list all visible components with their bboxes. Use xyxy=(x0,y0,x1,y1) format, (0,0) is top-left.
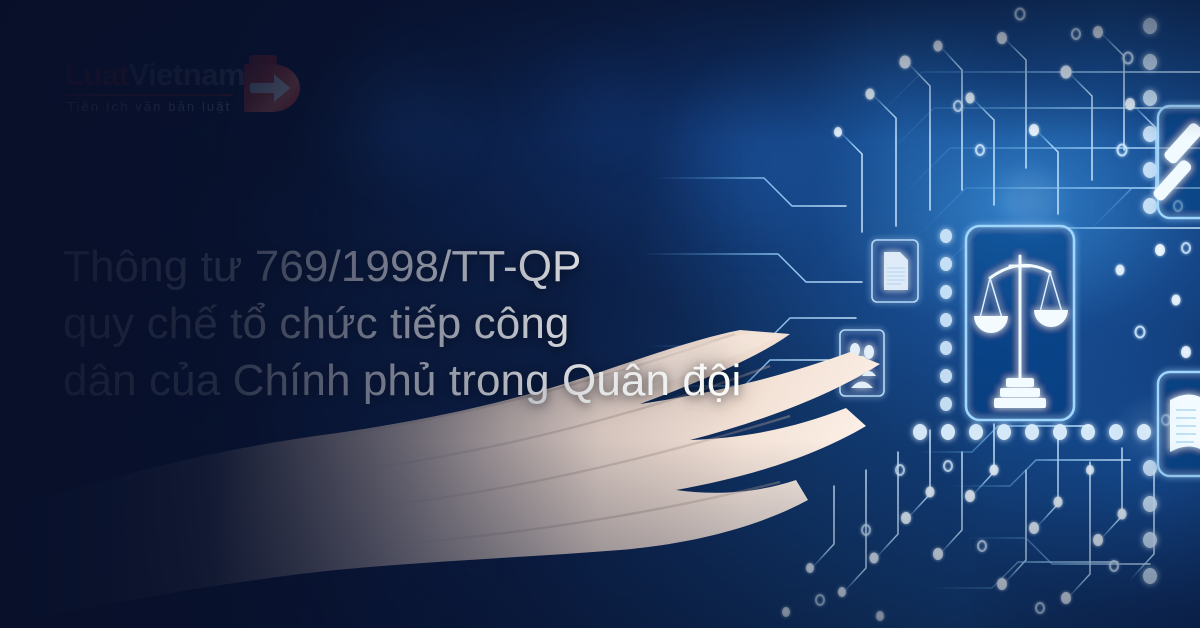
logo-wordmark: LuatVietnam xyxy=(65,58,245,92)
page-title: Thông tư 769/1998/TT-QP quy chế tổ chức … xyxy=(63,238,883,409)
banner: LuatVietnam Tiện ích văn bản luật Thông … xyxy=(0,0,1200,628)
folder-arrow-icon xyxy=(240,51,306,113)
logo-underline xyxy=(65,94,233,96)
logo-word-luat: Luat xyxy=(65,57,128,92)
logo-word-vietnam: Vietnam xyxy=(128,57,245,92)
title-line-3: dân của Chính phủ trong Quân đội xyxy=(63,352,883,409)
logo-tagline: Tiện ích văn bản luật xyxy=(67,99,231,114)
gavel-icon xyxy=(1151,106,1200,218)
logo[interactable]: LuatVietnam Tiện ích văn bản luật xyxy=(60,58,310,138)
title-line-2: quy chế tổ chức tiếp công xyxy=(63,295,883,352)
title-line-1: Thông tư 769/1998/TT-QP xyxy=(63,238,883,295)
